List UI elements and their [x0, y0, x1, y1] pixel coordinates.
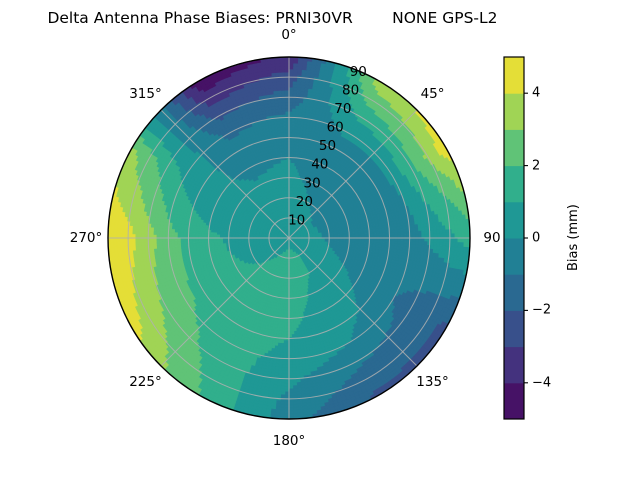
angular-tick-label-225: 225°: [129, 374, 162, 390]
colorbar-band: [504, 57, 524, 94]
polar-grid: [108, 57, 470, 419]
colorbar-band: [504, 383, 524, 420]
colorbar-band: [504, 238, 524, 275]
figure-canvas: Delta Antenna Phase Biases: PRNI30VR NON…: [0, 0, 640, 480]
angular-tick-label-135: 135°: [416, 374, 449, 390]
colorbar-band: [504, 129, 524, 166]
radial-tick-label: 10: [288, 212, 305, 228]
colorbar-band: [504, 166, 524, 203]
page-title: Delta Antenna Phase Biases: PRNI30VR NON…: [0, 9, 545, 27]
radial-tick-label: 90: [350, 64, 367, 80]
angular-tick-label-315: 315°: [129, 86, 162, 102]
angular-tick-label-45: 45°: [421, 86, 445, 102]
colorbar-band: [504, 274, 524, 311]
colorbar-band: [504, 202, 524, 239]
radial-tick-label: 30: [304, 175, 321, 191]
colorbar-band: [504, 93, 524, 130]
angular-tick-label-270: 270°: [70, 230, 103, 246]
radial-tick-label: 70: [334, 101, 351, 117]
colorbar-tick-label: 4: [532, 86, 540, 101]
colorbar-tick-label: 2: [532, 158, 540, 173]
angular-tick-label-180: 180°: [273, 433, 306, 449]
colorbar-tick-label: −4: [532, 375, 551, 390]
angular-tick-label-0: 0°: [281, 27, 296, 43]
colorbar-axis-label: Bias (mm): [566, 204, 581, 271]
radial-tick-label: 80: [342, 82, 359, 98]
colorbar-tick-label: 0: [532, 231, 540, 246]
angular-tick-label-90: 90: [483, 230, 500, 246]
colorbar: [504, 57, 528, 420]
colorbar-band: [504, 310, 524, 347]
radial-tick-label: 50: [319, 138, 336, 154]
radial-tick-label: 60: [327, 120, 344, 136]
radial-tick-label: 40: [311, 157, 328, 173]
colorbar-band: [504, 347, 524, 384]
colorbar-tick-label: −2: [532, 303, 551, 318]
radial-tick-label: 20: [296, 194, 313, 210]
